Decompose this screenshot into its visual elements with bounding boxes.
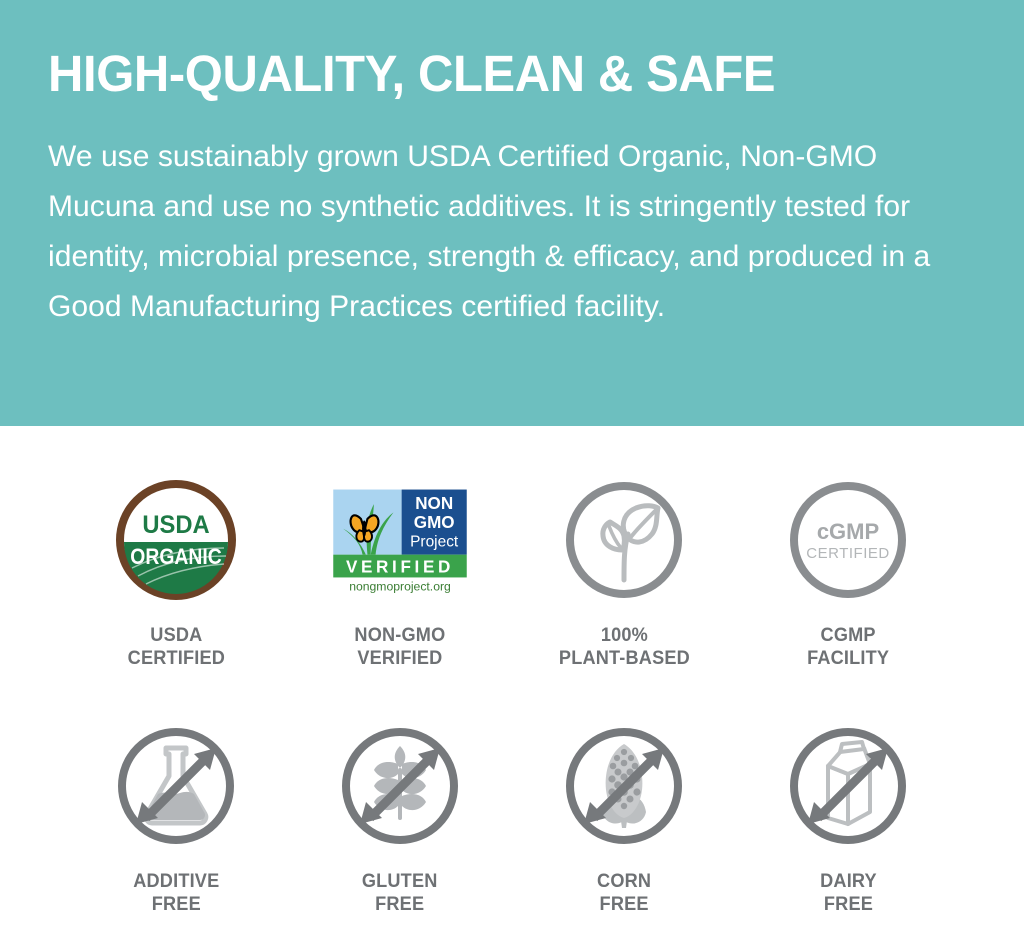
svg-text:ORGANIC: ORGANIC — [130, 545, 221, 569]
badge-gluten-free: GLUTEN FREE — [288, 718, 512, 916]
badge-label-line2: CERTIFIED — [127, 647, 224, 670]
svg-text:VERIFIED: VERIFIED — [346, 558, 454, 577]
badge-label-line1: USDA — [150, 624, 202, 646]
badge-label-line2: FREE — [133, 893, 219, 916]
svg-text:CERTIFIED: CERTIFIED — [806, 545, 889, 562]
no-corn-cob-icon — [554, 718, 694, 854]
badge-label-line2: PLANT-BASED — [558, 647, 689, 670]
badge-label-line2: FREE — [597, 893, 651, 916]
badge-label: DAIRY FREE — [820, 870, 877, 916]
svg-text:Project: Project — [410, 534, 459, 551]
badge-label-line2: FREE — [362, 893, 438, 916]
certification-badges-section: USDA ORGANIC USDA CERTIFIED — [0, 426, 1024, 942]
badge-plant-based: 100% PLANT-BASED — [512, 472, 736, 670]
badge-label-line1: NON-GMO — [355, 624, 446, 646]
badge-label-line2: FACILITY — [807, 647, 889, 670]
badge-dairy-free: DAIRY FREE — [736, 718, 960, 916]
no-dairy-carton-icon — [778, 718, 918, 854]
badge-label: ADDITIVE FREE — [133, 870, 219, 916]
plant-leaf-circle-icon — [554, 472, 694, 608]
badge-row-1: USDA ORGANIC USDA CERTIFIED — [0, 426, 1024, 670]
badge-label: GLUTEN FREE — [362, 870, 438, 916]
svg-text:NON: NON — [415, 494, 453, 513]
badge-label: NON-GMO VERIFIED — [355, 624, 446, 670]
badge-label-line1: CGMP — [820, 624, 875, 646]
no-additive-flask-icon — [106, 718, 246, 854]
cgmp-certified-circle-icon: cGMP CERTIFIED — [778, 472, 918, 608]
badge-label-line1: GLUTEN — [362, 870, 438, 892]
svg-text:USDA: USDA — [142, 511, 209, 539]
page-title: HIGH-QUALITY, CLEAN & SAFE — [48, 44, 935, 104]
usda-organic-seal-icon: USDA ORGANIC — [106, 472, 246, 608]
badge-label-line1: 100% — [600, 624, 647, 646]
badge-label-line1: ADDITIVE — [133, 870, 219, 892]
badge-label-line2: VERIFIED — [355, 647, 446, 670]
badge-label: CORN FREE — [597, 870, 651, 916]
badge-label-line1: CORN — [597, 870, 651, 892]
badge-corn-free: CORN FREE — [512, 718, 736, 916]
svg-text:nongmoproject.org: nongmoproject.org — [349, 579, 451, 593]
badge-non-gmo-verified: NON GMO Project VERIFIED nongmoproject.o… — [288, 472, 512, 670]
svg-text:cGMP: cGMP — [817, 519, 879, 544]
badge-label: USDA CERTIFIED — [127, 624, 224, 670]
badge-label-line2: FREE — [820, 893, 877, 916]
hero-banner: HIGH-QUALITY, CLEAN & SAFE We use sustai… — [0, 0, 1024, 426]
badge-usda-certified: USDA ORGANIC USDA CERTIFIED — [64, 472, 288, 670]
non-gmo-project-verified-icon: NON GMO Project VERIFIED nongmoproject.o… — [330, 472, 470, 608]
badge-label: 100% PLANT-BASED — [558, 624, 689, 670]
badge-additive-free: ADDITIVE FREE — [64, 718, 288, 916]
no-gluten-wheat-icon — [330, 718, 470, 854]
hero-description: We use sustainably grown USDA Certified … — [48, 132, 972, 332]
badge-row-2: ADDITIVE FREE — [0, 670, 1024, 916]
svg-text:GMO: GMO — [414, 513, 455, 532]
badge-label-line1: DAIRY — [820, 870, 877, 892]
badge-label: CGMP FACILITY — [807, 624, 889, 670]
marketing-infographic-page: HIGH-QUALITY, CLEAN & SAFE We use sustai… — [0, 0, 1024, 942]
badge-cgmp-facility: cGMP CERTIFIED CGMP FACILITY — [736, 472, 960, 670]
